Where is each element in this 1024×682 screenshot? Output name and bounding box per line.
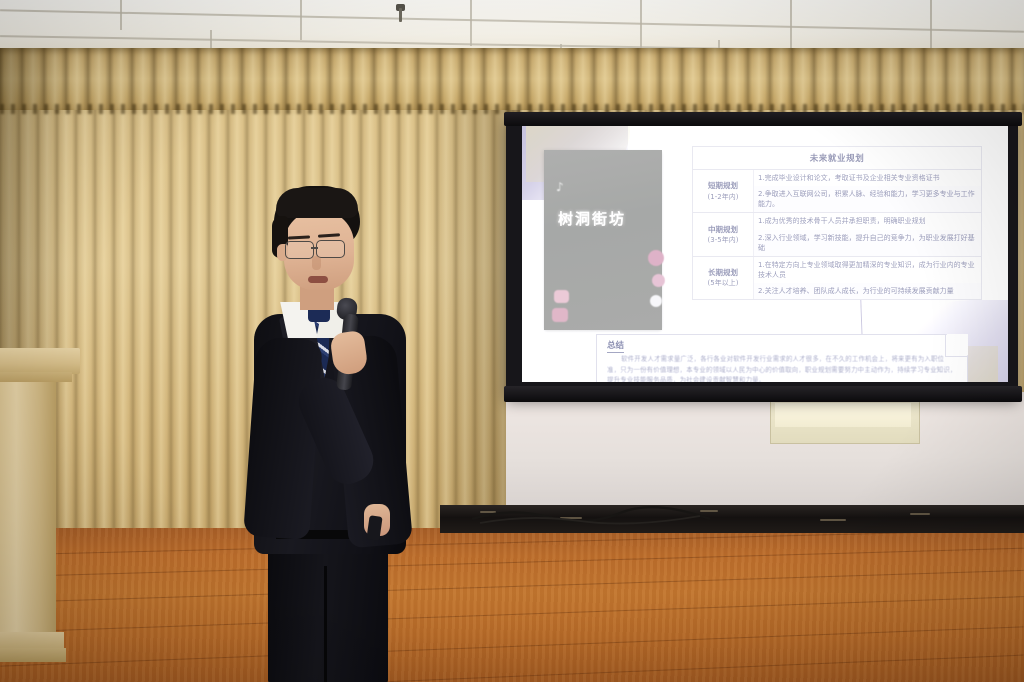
- row-period-text: (1-2年内): [708, 192, 739, 203]
- male-presenter: [236, 186, 426, 682]
- slide-summary-box: 总结 软件开发人才需求量广泛，各行各业对软件开发行业需求的人才很多，在不久的工作…: [596, 334, 968, 382]
- back-wall: [506, 392, 1024, 510]
- table-cell: 2.关注人才培养、团队成人成长，为行业的可持续发展贡献力量: [754, 283, 981, 299]
- table-row: 中期规划 (3-5年内) 1.成为优秀的技术骨干人员并承担职责，明确职业规划 2…: [692, 213, 982, 256]
- emoji-icon-2: [652, 274, 665, 287]
- eyeglasses-lens-left: [285, 241, 314, 259]
- sticker-icon-2: [552, 308, 568, 322]
- slide-table-title: 未来就业规划: [692, 146, 982, 170]
- summary-title: 总结: [607, 339, 624, 353]
- table-cell: 2.争取进入互联网公司，积累人脉、经验和能力，学习更多专业与工作能力。: [754, 186, 981, 212]
- summary-body: 软件开发人才需求量广泛，各行各业对软件开发行业需求的人才很多，在不久的工作机会上…: [607, 354, 957, 382]
- eyeglasses-lens-right: [316, 240, 345, 258]
- music-note-icon: ♪: [556, 180, 571, 196]
- table-cell: 1.成为优秀的技术骨干人员并承担职责，明确职业规划: [754, 213, 981, 229]
- emoji-icon-3: [650, 295, 662, 307]
- table-row-label: 中期规划 (3-5年内): [693, 213, 754, 255]
- presenter-nose: [312, 256, 321, 270]
- emoji-icon-1: [648, 250, 664, 266]
- presenter-mouth: [308, 276, 328, 283]
- curtain-valance: [0, 48, 1024, 110]
- projected-slide: ♪ 树洞街坊 未来就业规划 短期规划 (1-2年内) 1.完成毕业设计和论文，考…: [522, 126, 1008, 382]
- table-row: 短期规划 (1-2年内) 1.完成毕业设计和论文，考取证书及企业相关专业资格证书…: [692, 170, 982, 213]
- lectern-top: [0, 348, 80, 374]
- sticker-icon-1: [554, 290, 569, 303]
- media-watermark-title: 树洞街坊: [558, 208, 658, 229]
- eyeglasses-bridge: [311, 247, 318, 249]
- floor-reflection: [0, 528, 1024, 682]
- sprinkler-head-icon: [396, 4, 405, 22]
- lectern-lip: [0, 372, 72, 382]
- presentation-photo-scene: ♪ 树洞街坊 未来就业规划 短期规划 (1-2年内) 1.完成毕业设计和论文，考…: [0, 0, 1024, 682]
- screen-top-bar: [504, 112, 1022, 126]
- slide-table: 未来就业规划 短期规划 (1-2年内) 1.完成毕业设计和论文，考取证书及企业相…: [692, 146, 982, 300]
- table-cell: 1.在特定方向上专业领域取得更加精深的专业知识，成为行业内的专业技术人员: [754, 257, 981, 283]
- table-cell: 2.深入行业领域，学习新技能，提升自己的竞争力，为职业发展打好基础: [754, 230, 981, 256]
- wooden-lectern: [0, 348, 80, 682]
- presenter-trousers: [268, 534, 388, 682]
- presenter-arm-right: [243, 336, 323, 540]
- screen-bottom-bar: [504, 386, 1022, 402]
- slide-media-panel: ♪ 树洞街坊: [544, 150, 662, 330]
- row-label-text: 中期规划: [708, 224, 738, 235]
- row-label-text: 长期规划: [708, 267, 738, 278]
- table-row: 长期规划 (5年以上) 1.在特定方向上专业领域取得更加精深的专业知识，成为行业…: [692, 257, 982, 300]
- row-label-text: 短期规划: [708, 180, 738, 191]
- presenter-hair-fringe: [276, 188, 358, 218]
- table-row-label: 长期规划 (5年以上): [693, 257, 754, 299]
- table-row-label: 短期规划 (1-2年内): [693, 170, 754, 212]
- lectern-body: [0, 382, 56, 634]
- table-cell: 1.完成毕业设计和论文，考取证书及企业相关专业资格证书: [754, 170, 981, 186]
- floor-cables: [470, 505, 720, 525]
- slide-table-title-text: 未来就业规划: [810, 152, 865, 164]
- row-period-text: (3-5年内): [708, 235, 739, 246]
- wall-vent-panel-inner: [775, 403, 911, 427]
- lectern-plinth: [0, 648, 66, 662]
- row-period-text: (5年以上): [708, 278, 739, 289]
- trouser-seam: [324, 566, 327, 682]
